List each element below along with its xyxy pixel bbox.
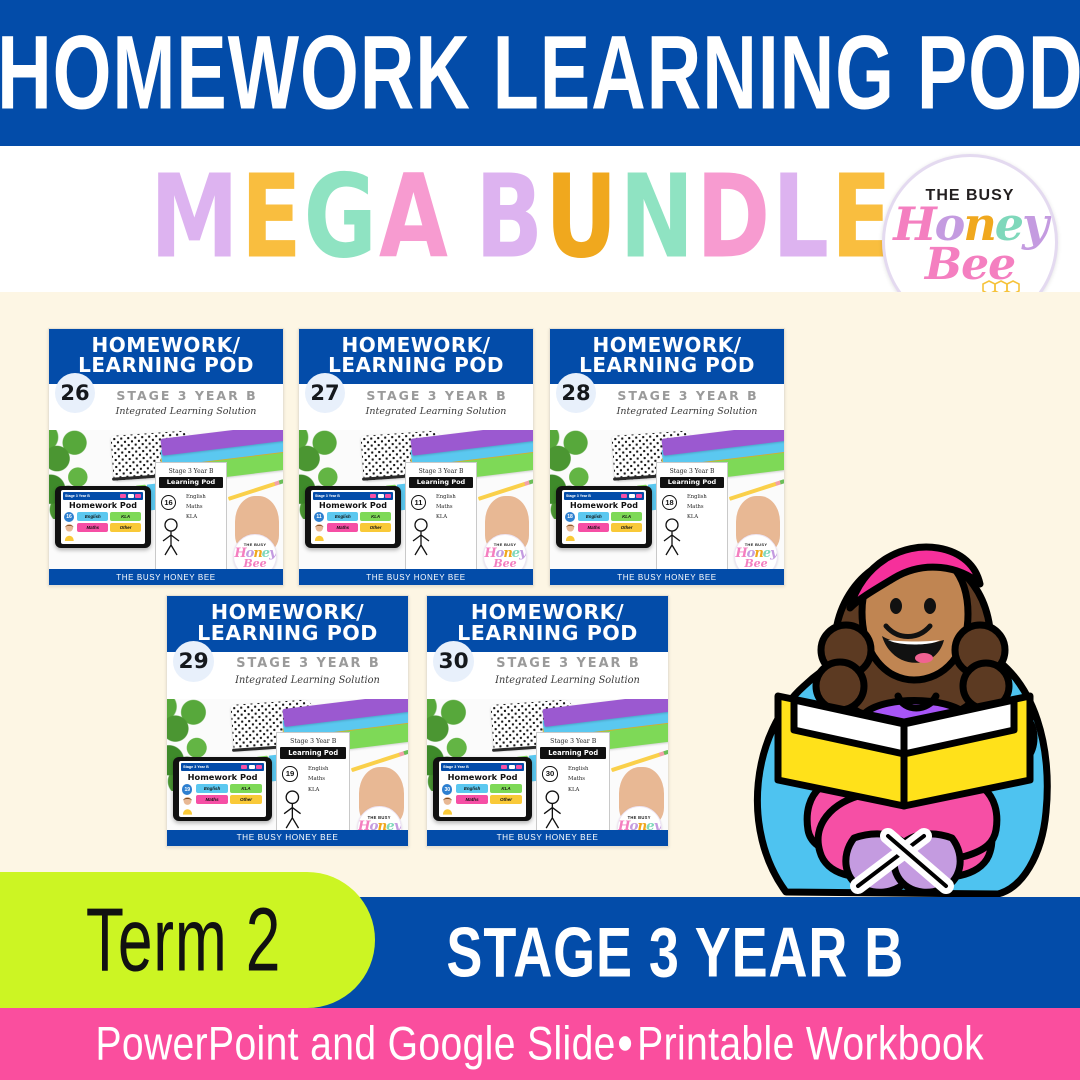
worksheet-figure-drawing [409, 517, 433, 557]
worksheet-subject-list: EnglishMathsKLA [687, 493, 707, 523]
worksheet-number-badge: 16 [161, 495, 176, 510]
tablet-avatar [441, 796, 454, 815]
tablet-title: Homework Pod [181, 772, 264, 782]
tablet-button-other[interactable]: Other [360, 523, 391, 532]
tablet-title: Homework Pod [441, 772, 524, 782]
card-footer: THE BUSY HONEY BEE [427, 830, 668, 846]
worksheet-stage-label: Stage 3 Year B [277, 738, 349, 745]
worksheet-stage-label: Stage 3 Year B [657, 468, 727, 475]
tablet-button-english[interactable]: English [578, 512, 609, 521]
worksheet-subject-kla: KLA [687, 513, 707, 523]
card-number-badge: 26 [55, 373, 95, 413]
card-subheader: 27 STAGE 3 YEAR B Integrated Learning So… [299, 384, 533, 430]
tablet-nav-pips [241, 765, 262, 769]
tablet-mockup: Stage 3 Year B Homework Pod 16 EnglishKL… [55, 486, 151, 548]
worksheet-subject-maths: Maths [687, 503, 707, 513]
worksheet-subject-kla: KLA [568, 785, 588, 795]
mini-logo-bee-text: Bee [243, 558, 266, 569]
worksheet-number-badge: 18 [662, 495, 677, 510]
worksheet-subject-list: EnglishMathsKLA [568, 764, 588, 795]
tablet-button-kla[interactable]: KLA [110, 512, 141, 521]
mega-letter-5: B [475, 160, 545, 275]
card-header-line2: LEARNING POD [303, 355, 529, 375]
worksheet-figure-drawing [159, 517, 183, 557]
product-card-29[interactable]: HOMEWORK/ LEARNING POD 29 STAGE 3 YEAR B… [166, 595, 409, 847]
card-number-badge: 28 [556, 373, 596, 413]
tablet-button-other[interactable]: Other [611, 523, 642, 532]
product-card-26[interactable]: HOMEWORK/ LEARNING POD 26 STAGE 3 YEAR B… [48, 328, 284, 586]
worksheet-subject-maths: Maths [568, 774, 588, 784]
card-number-badge: 27 [305, 373, 345, 413]
card-header-line2: LEARNING POD [171, 623, 404, 644]
mega-letter-0: M [150, 160, 241, 275]
worksheet-subject-kla: KLA [436, 513, 456, 523]
mini-logo-bee-text: Bee [493, 558, 516, 569]
tablet-avatar [313, 523, 326, 541]
term-badge: Term 2 [0, 872, 375, 1008]
worksheet-figure-drawing [280, 789, 305, 830]
tablet-button-kla[interactable]: KLA [490, 784, 522, 793]
worksheet-subject-english: English [687, 493, 707, 503]
tablet-button-other[interactable]: Other [490, 795, 522, 804]
tablet-nav-pips [370, 494, 391, 498]
tablet-topbar: Stage 3 Year B [63, 492, 143, 500]
card-subheader: 28 STAGE 3 YEAR B Integrated Learning So… [550, 384, 784, 430]
card-header-line1: HOMEWORK/ [554, 335, 780, 355]
card-footer: THE BUSY HONEY BEE [49, 569, 283, 585]
card-header-line2: LEARNING POD [431, 623, 664, 644]
card-photo: Stage 3 Year B Homework Pod 30 EnglishKL… [427, 699, 668, 847]
card-header-line2: LEARNING POD [554, 355, 780, 375]
worksheet-subject-list: EnglishMathsKLA [186, 493, 206, 523]
tablet-button-other[interactable]: Other [230, 795, 262, 804]
tablet-screen: Stage 3 Year B Homework Pod 11 EnglishKL… [311, 490, 395, 544]
worksheet-subject-maths: Maths [186, 503, 206, 513]
term-badge-label: Term 2 [53, 889, 281, 992]
tablet-topbar: Stage 3 Year B [313, 492, 393, 500]
mega-letter-3: A [379, 160, 450, 275]
tablet-title: Homework Pod [63, 501, 143, 510]
worksheet-subject-english: English [436, 493, 456, 503]
worksheet-bar-label: Learning Pod [660, 477, 724, 488]
worksheet-subject-maths: Maths [436, 503, 456, 513]
tablet-button-kla[interactable]: KLA [360, 512, 391, 521]
tablet-mockup: Stage 3 Year B Homework Pod 11 EnglishKL… [305, 486, 401, 548]
logo-honey-letter-4: y [1022, 201, 1047, 247]
tablet-topbar: Stage 3 Year B [441, 763, 524, 771]
card-subheader: 26 STAGE 3 YEAR B Integrated Learning So… [49, 384, 283, 430]
worksheet-number-badge: 11 [411, 495, 426, 510]
mega-letter-2: G [304, 160, 379, 275]
mega-letter-8: D [696, 160, 772, 275]
product-card-30[interactable]: HOMEWORK/ LEARNING POD 30 STAGE 3 YEAR B… [426, 595, 669, 847]
card-header-line1: HOMEWORK/ [53, 335, 279, 355]
mega-bundle-band: MEGA BUNDLE THE BUSY Honey Bee [0, 146, 1080, 292]
tablet-avatar [181, 796, 194, 815]
tablet-nav-pips [621, 494, 642, 498]
tablet-button-kla[interactable]: KLA [230, 784, 262, 793]
worksheet-preview: Stage 3 Year B Learning Pod 11 EnglishMa… [405, 462, 477, 574]
tablet-screen: Stage 3 Year B Homework Pod 30 EnglishKL… [439, 761, 526, 817]
worksheet-subject-list: EnglishMathsKLA [308, 764, 328, 795]
card-header-line1: HOMEWORK/ [171, 602, 404, 623]
tablet-stage-label: Stage 3 Year B [443, 765, 469, 769]
tablet-mockup: Stage 3 Year B Homework Pod 19 EnglishKL… [173, 757, 272, 821]
worksheet-bar-label: Learning Pod [280, 747, 346, 758]
tablet-button-maths[interactable]: Maths [77, 523, 108, 532]
tablet-stage-label: Stage 3 Year B [65, 494, 90, 498]
mega-letter-4 [450, 160, 475, 275]
mega-letter-1: E [241, 160, 304, 275]
tablet-screen: Stage 3 Year B Homework Pod 18 EnglishKL… [562, 490, 646, 544]
worksheet-subject-list: EnglishMathsKLA [436, 493, 456, 523]
worksheet-figure-drawing [540, 789, 565, 830]
tablet-nav-pips [501, 765, 522, 769]
worksheet-subject-kla: KLA [308, 785, 328, 795]
worksheet-bar-label: Learning Pod [540, 747, 606, 758]
card-subheader: 30 STAGE 3 YEAR B Integrated Learning So… [427, 652, 668, 699]
header-bar: HOMEWORK LEARNING POD [0, 0, 1080, 146]
worksheet-preview: Stage 3 Year B Learning Pod 18 EnglishMa… [656, 462, 728, 574]
tablet-button-maths[interactable]: Maths [578, 523, 609, 532]
formats-band: PowerPoint and Google SlidePrintable Wor… [0, 1008, 1080, 1080]
card-header-line2: LEARNING POD [53, 355, 279, 375]
tablet-button-maths[interactable]: Maths [456, 795, 488, 804]
tablet-button-maths[interactable]: Maths [196, 795, 228, 804]
page-title: HOMEWORK LEARNING POD [0, 21, 1080, 126]
worksheet-stage-label: Stage 3 Year B [156, 468, 226, 475]
worksheet-bar-label: Learning Pod [159, 477, 223, 488]
tablet-button-kla[interactable]: KLA [611, 512, 642, 521]
worksheet-stage-label: Stage 3 Year B [406, 468, 476, 475]
tablet-nav-pips [120, 494, 141, 498]
formats-left-label: PowerPoint and Google Slide [96, 1017, 616, 1070]
tablet-mockup: Stage 3 Year B Homework Pod 18 EnglishKL… [556, 486, 652, 548]
card-header-line1: HOMEWORK/ [431, 602, 664, 623]
tablet-button-maths[interactable]: Maths [327, 523, 358, 532]
formats-band-label: PowerPoint and Google SlidePrintable Wor… [96, 1017, 985, 1071]
tablet-avatar [564, 523, 577, 541]
tablet-title: Homework Pod [313, 501, 393, 510]
worksheet-bar-label: Learning Pod [409, 477, 473, 488]
tablet-screen: Stage 3 Year B Homework Pod 16 EnglishKL… [61, 490, 145, 544]
tablet-stage-label: Stage 3 Year B [566, 494, 591, 498]
tablet-mockup: Stage 3 Year B Homework Pod 30 EnglishKL… [433, 757, 532, 821]
card-subheader: 29 STAGE 3 YEAR B Integrated Learning So… [167, 652, 408, 699]
worksheet-subject-english: English [308, 764, 328, 774]
worksheet-subject-english: English [186, 493, 206, 503]
tablet-title: Homework Pod [564, 501, 644, 510]
mega-bundle-title: MEGA BUNDLE [150, 160, 894, 275]
tablet-avatar [63, 523, 76, 541]
girl-reading-book-on-beanbag-illustration [746, 500, 1076, 900]
mega-letter-9: L [772, 160, 831, 275]
tablet-button-english[interactable]: English [327, 512, 358, 521]
tablet-button-english[interactable]: English [77, 512, 108, 521]
worksheet-subject-maths: Maths [308, 774, 328, 784]
mega-letter-6: U [545, 160, 619, 275]
worksheet-preview: Stage 3 Year B Learning Pod 16 EnglishMa… [155, 462, 227, 574]
worksheet-subject-kla: KLA [186, 513, 206, 523]
worksheet-stage-label: Stage 3 Year B [537, 738, 609, 745]
worksheet-number-badge: 30 [542, 766, 557, 781]
tablet-stage-label: Stage 3 Year B [315, 494, 340, 498]
worksheet-figure-drawing [660, 517, 684, 557]
tablet-button-english[interactable]: English [196, 784, 228, 793]
tablet-stage-label: Stage 3 Year B [183, 765, 209, 769]
card-photo: Stage 3 Year B Homework Pod 16 EnglishKL… [49, 430, 283, 580]
card-photo: Stage 3 Year B Homework Pod 11 EnglishKL… [299, 430, 533, 580]
card-footer: THE BUSY HONEY BEE [167, 830, 408, 846]
tablet-button-english[interactable]: English [456, 784, 488, 793]
worksheet-subject-english: English [568, 764, 588, 774]
tablet-topbar: Stage 3 Year B [181, 763, 264, 771]
card-footer: THE BUSY HONEY BEE [299, 569, 533, 585]
tablet-screen: Stage 3 Year B Homework Pod 19 EnglishKL… [179, 761, 266, 817]
card-header-line1: HOMEWORK/ [303, 335, 529, 355]
card-number-badge: 30 [433, 641, 474, 682]
tablet-button-other[interactable]: Other [110, 523, 141, 532]
formats-right-label: Printable Workbook [637, 1017, 984, 1070]
bullet-separator-icon [619, 1037, 631, 1052]
mega-letter-7: N [619, 160, 696, 275]
card-photo: Stage 3 Year B Homework Pod 19 EnglishKL… [167, 699, 408, 847]
card-number-badge: 29 [173, 641, 214, 682]
worksheet-number-badge: 19 [282, 766, 297, 781]
product-card-27[interactable]: HOMEWORK/ LEARNING POD 27 STAGE 3 YEAR B… [298, 328, 534, 586]
tablet-topbar: Stage 3 Year B [564, 492, 644, 500]
